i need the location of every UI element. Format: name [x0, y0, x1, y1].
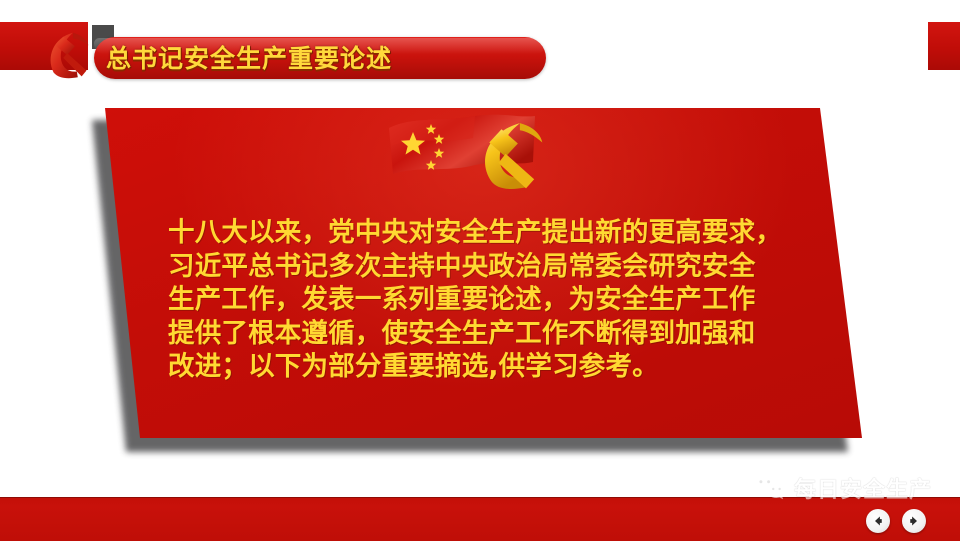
quote-line: 生产工作，发表一系列重要论述，为安全生产工作: [168, 283, 828, 317]
quote-line: 改进；以下为部分重要摘选,供学习参考。: [168, 350, 828, 384]
china-flag-party-emblem-icon: [383, 110, 543, 190]
arrow-right-icon: [908, 515, 920, 527]
wechat-icon: [752, 472, 786, 504]
next-slide-button[interactable]: [902, 509, 926, 533]
quote-line: 提供了根本遵循，使安全生产工作不断得到加强和: [168, 317, 828, 351]
slide-canvas: 总书记安全生产重要论述: [0, 0, 960, 540]
watermark-text: 每日安全生产: [794, 472, 932, 504]
slide-nav-buttons: [866, 508, 946, 534]
quote-line: 十八大以来，党中央对安全生产提出新的更高要求，: [168, 216, 828, 250]
watermark: 每日安全生产: [752, 470, 952, 506]
prev-slide-button[interactable]: [866, 509, 890, 533]
quote-line: 习近平总书记多次主持中央政治局常委会研究安全: [168, 250, 828, 284]
quote-paragraph: 十八大以来，党中央对安全生产提出新的更高要求， 习近平总书记多次主持中央政治局常…: [168, 216, 828, 384]
arrow-left-icon: [872, 515, 884, 527]
